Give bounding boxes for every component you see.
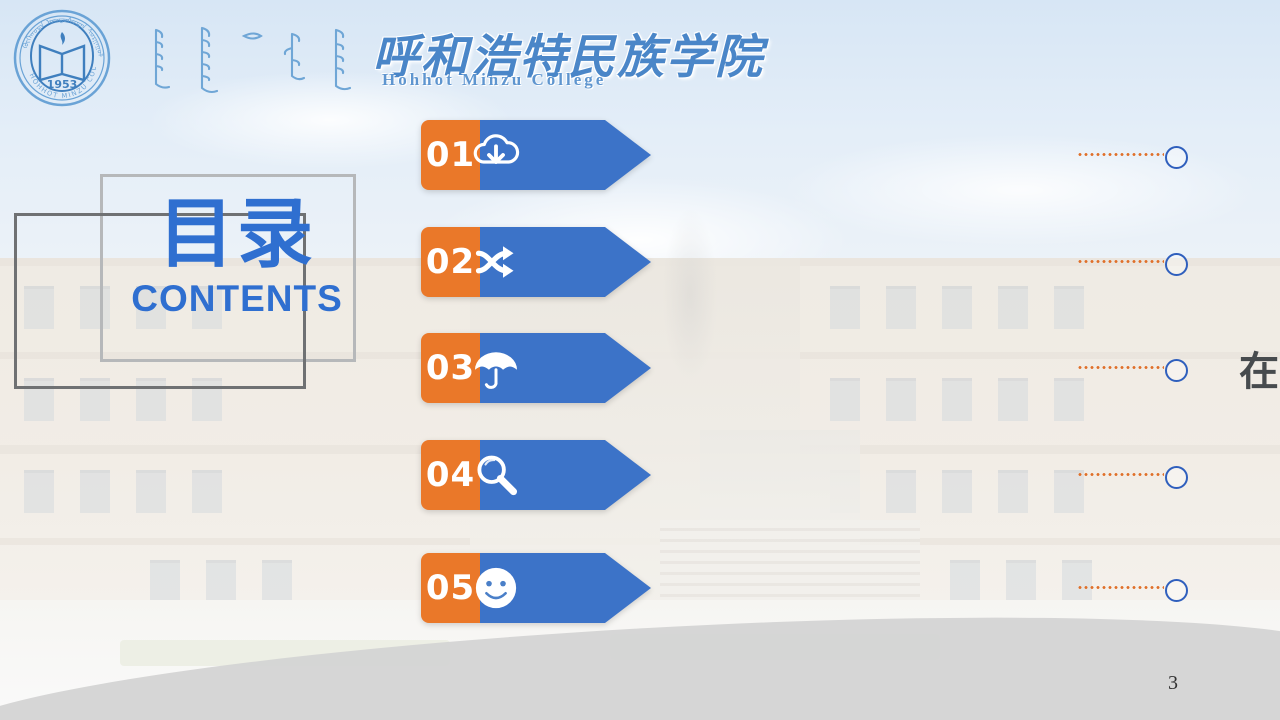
toc-dotted-connector [1077,473,1164,476]
toc-label[interactable]: 在线教学平台应用情况 [1239,333,1280,403]
toc-item-03[interactable]: 03 在线教学平台应用情况 [421,333,651,403]
page-number: 3 [1168,672,1178,695]
toc-banner[interactable]: 04 [421,440,651,510]
university-seal-icon: 1953 ᠬᠥᠬᠡᠬᠣᠲᠠ ᠦᠨᠳᠦᠰᠦᠲᠡᠨ ᠰᠤᠷᠭᠠᠭᠤᠯᠢ HOHHOT… [12,8,112,108]
window-row [950,560,1092,615]
window-row [150,560,292,615]
presentation-slide: 1953 ᠬᠥᠬᠡᠬᠣᠲᠠ ᠦᠨᠳᠦᠰᠦᠲᠡᠨ ᠰᠤᠷᠭᠠᠭᠤᠯᠢ HOHHOT… [0,0,1280,720]
hedge [610,634,940,660]
building-band [0,538,1280,545]
page-title-chinese: 目录 [158,190,358,280]
page-title-english: CONTENTS [112,278,362,320]
window-row [24,470,222,513]
window-row [830,470,1084,513]
cloud-download-icon [461,120,531,190]
hedge [120,640,450,666]
magnifier-icon [461,440,531,510]
institution-english-name: Hohhot Minzu College [382,70,682,90]
building-entrance [700,430,860,620]
mongolian-script-name [140,22,370,94]
toc-dotted-connector [1077,366,1164,369]
window-row [830,286,1084,329]
toc-dotted-connector [1077,586,1164,589]
toc-ring-marker [1165,146,1188,169]
toc-item-02[interactable]: 02 在线教学数据分析 [421,227,651,297]
toc-item-05[interactable]: 05 改 进 措 施 [421,553,651,623]
toc-item-01[interactable]: 01 基 本 情 况 [421,120,651,190]
institution-chinese-name: 呼和浩特民族学院 [372,18,672,76]
institution-header: 1953 ᠬᠥᠬᠡᠬᠣᠲᠠ ᠦᠨᠳᠦᠰᠦᠲᠡᠨ ᠰᠤᠷᠭᠠᠭᠤᠯᠢ HOHHOT… [0,0,700,115]
toc-dotted-connector [1077,260,1164,263]
toc-banner[interactable]: 01 [421,120,651,190]
toc-banner[interactable]: 03 [421,333,651,403]
toc-dotted-connector [1077,153,1164,156]
toc-banner[interactable]: 02 [421,227,651,297]
smiley-face-icon [461,553,531,623]
toc-ring-marker [1165,359,1188,382]
toc-item-04[interactable]: 04 存 在 问 题 [421,440,651,510]
toc-banner[interactable]: 05 [421,553,651,623]
svg-text:1953: 1953 [47,78,78,91]
entrance-steps [660,520,920,630]
toc-ring-marker [1165,253,1188,276]
umbrella-icon [461,333,531,403]
window-row [830,378,1084,421]
campus-statue [640,155,740,455]
toc-ring-marker [1165,579,1188,602]
shuffle-arrows-icon [461,227,531,297]
svg-text:ᠬᠥᠬᠡᠬᠣᠲᠠ ᠦᠨᠳᠦᠰᠦᠲᠡᠨ ᠰᠤᠷᠭᠠᠭᠤᠯᠢ: ᠬᠥᠬᠡᠬᠣᠲᠠ ᠦᠨᠳᠦᠰᠦᠲᠡᠨ ᠰᠤᠷᠭᠠᠭᠤᠯᠢ [12,8,105,58]
toc-ring-marker [1165,466,1188,489]
